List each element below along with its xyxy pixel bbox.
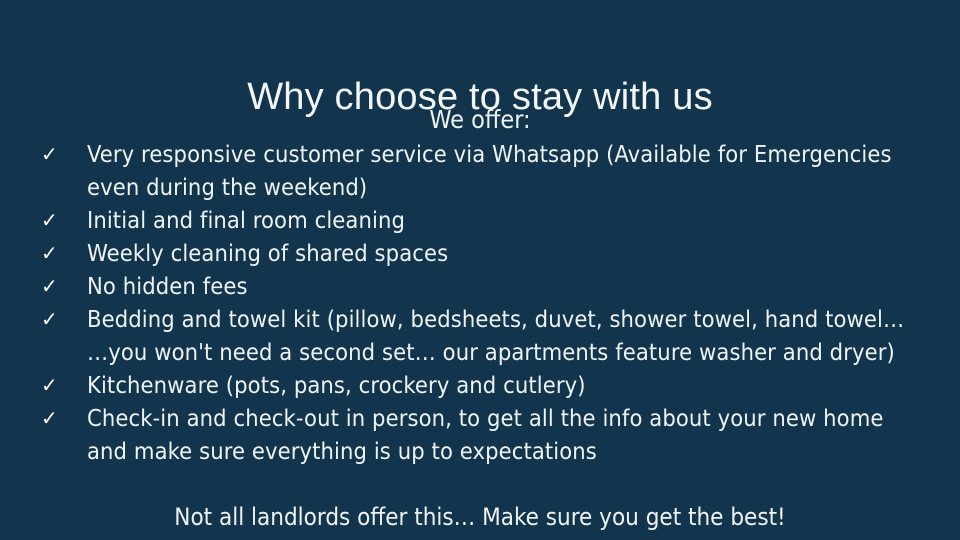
check-mark-icon: ✓ [41,204,65,237]
list-item-line: Weekly cleaning of shared spaces [87,239,448,267]
closing-statement: Not all landlords offer this… Make sure … [0,501,960,533]
benefits-list: ✓ Very responsive customer service via W… [0,138,960,468]
list-item-line-continued: and make sure everything is up to expect… [87,435,930,468]
list-item-label: Kitchenware (pots, pans, crockery and cu… [87,369,930,402]
check-mark-icon: ✓ [41,303,65,336]
list-item-line: Initial and final room cleaning [87,206,405,234]
check-mark-icon: ✓ [41,369,65,402]
list-item-line: Very responsive customer service via Wha… [87,140,892,168]
list-item-line-continued: even during the weekend) [87,171,930,204]
list-item-line-continued: …you won't need a second set… our apartm… [87,336,930,369]
list-item-label: No hidden fees [87,270,930,303]
check-mark-icon: ✓ [41,138,65,171]
list-item-line: Kitchenware (pots, pans, crockery and cu… [87,371,586,399]
list-item: ✓ Bedding and towel kit (pillow, bedshee… [0,303,960,369]
presentation-slide: Why choose to stay with us We offer: ✓ V… [0,0,960,540]
list-item: ✓ Weekly cleaning of shared spaces [0,237,960,270]
list-item-line: Bedding and towel kit (pillow, bedsheets… [87,305,904,333]
list-item: ✓ Very responsive customer service via W… [0,138,960,204]
list-item-label: Very responsive customer service via Wha… [87,138,930,204]
slide-subtitle: We offer: [0,104,960,136]
list-item: ✓ Check-in and check-out in person, to g… [0,402,960,468]
list-item: ✓ Initial and final room cleaning [0,204,960,237]
list-item-line: No hidden fees [87,272,248,300]
list-item-line: Check-in and check-out in person, to get… [87,404,884,432]
check-mark-icon: ✓ [41,402,65,435]
check-mark-icon: ✓ [41,270,65,303]
list-item: ✓ No hidden fees [0,270,960,303]
check-mark-icon: ✓ [41,237,65,270]
list-item-label: Initial and final room cleaning [87,204,930,237]
list-item-label: Weekly cleaning of shared spaces [87,237,930,270]
list-item-label: Check-in and check-out in person, to get… [87,402,930,468]
list-item: ✓ Kitchenware (pots, pans, crockery and … [0,369,960,402]
list-item-label: Bedding and towel kit (pillow, bedsheets… [87,303,930,369]
